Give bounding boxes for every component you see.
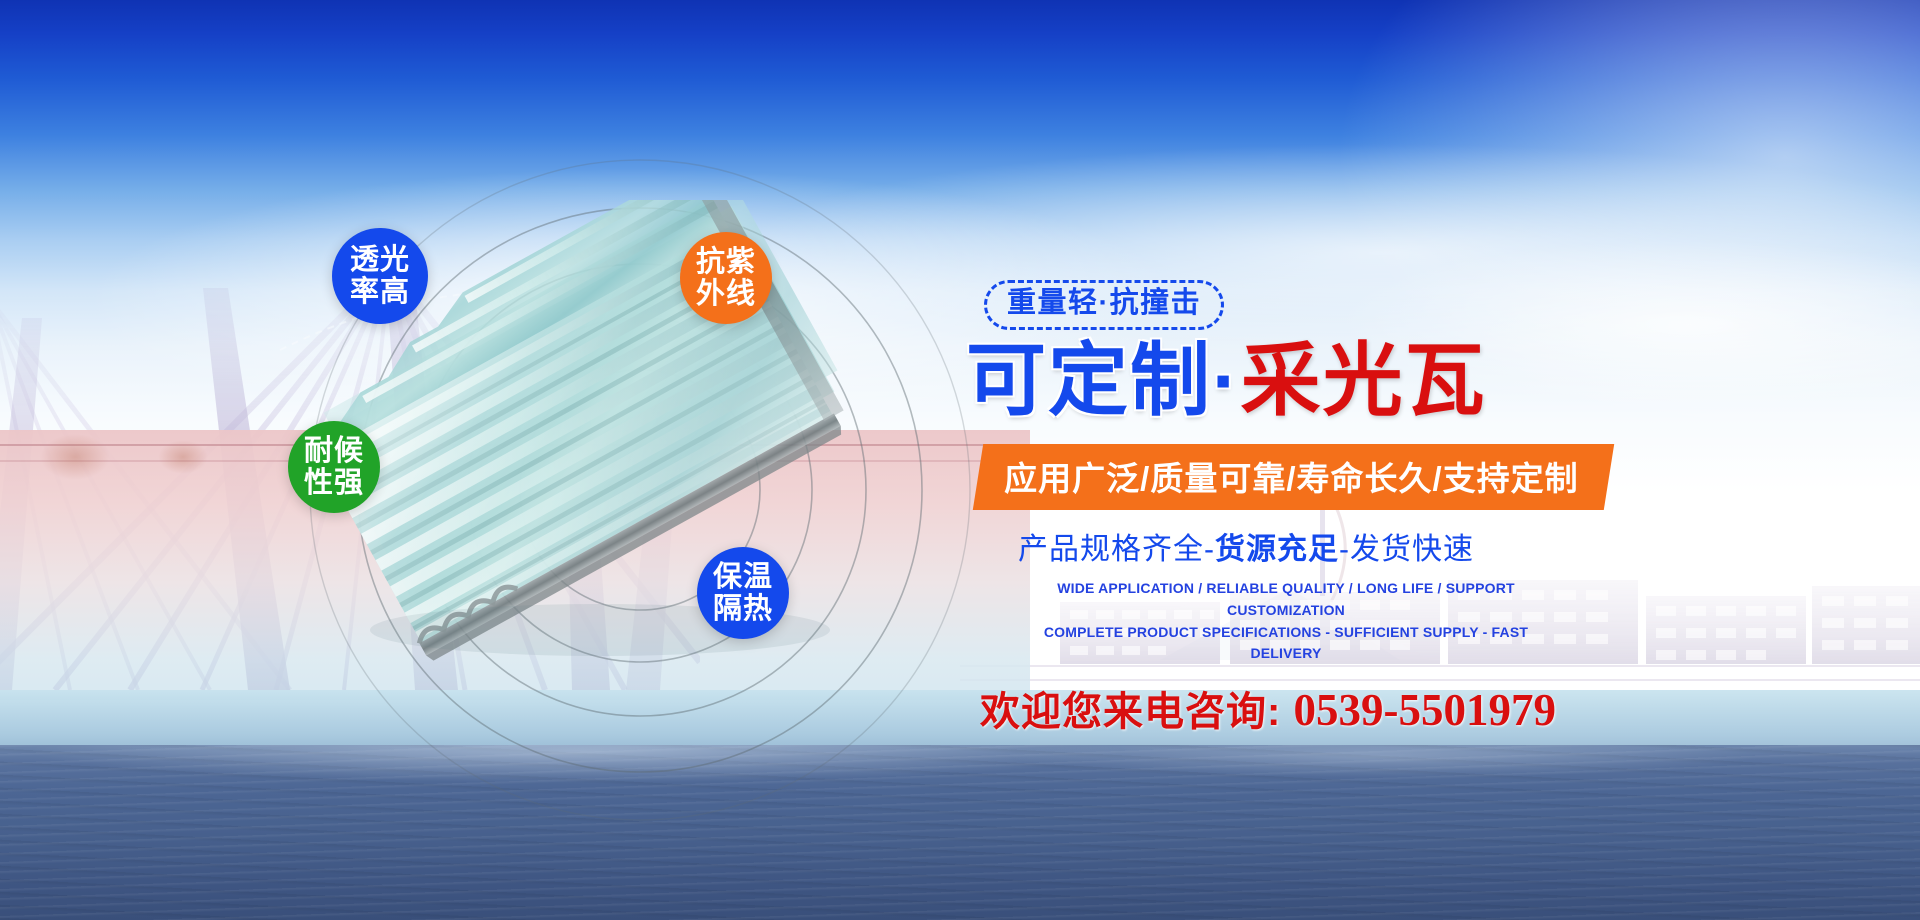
phone-label: 欢迎您来电咨询: — [980, 690, 1281, 734]
feature-bubble-label: 抗紫外线 — [689, 246, 763, 311]
headline-accent: 采光瓦 — [1241, 336, 1487, 425]
promo-banner: 透光率高 抗紫外线 耐候性强 保温隔热 重量轻·抗撞击 可定制·采光瓦 应用广泛… — [0, 0, 1920, 920]
feature-bubble-label: 耐候性强 — [297, 435, 371, 500]
english-line-1: WIDE APPLICATION / RELIABLE QUALITY / LO… — [1026, 578, 1546, 621]
english-translation-block: WIDE APPLICATION / RELIABLE QUALITY / LO… — [1026, 578, 1546, 665]
phone-number[interactable]: 0539-5501979 — [1293, 685, 1556, 735]
subline-strong: 货源充足 — [1215, 533, 1339, 566]
subline-tail: -发货快速 — [1339, 533, 1474, 566]
contact-phone-line[interactable]: 欢迎您来电咨询: 0539-5501979 — [980, 679, 1666, 737]
feature-bubble-weatherproof[interactable]: 耐候性强 — [288, 421, 380, 513]
benefits-ribbon-label: 应用广泛/质量可靠/寿命长久/支持定制 — [1004, 452, 1579, 500]
benefits-ribbon: 应用广泛/质量可靠/寿命长久/支持定制 — [973, 444, 1614, 510]
marketing-copy-block: 重量轻·抗撞击 可定制·采光瓦 应用广泛/质量可靠/寿命长久/支持定制 产品规格… — [966, 280, 1666, 737]
english-line-2: COMPLETE PRODUCT SPECIFICATIONS - SUFFIC… — [1026, 622, 1546, 665]
feature-bubble-transmittance[interactable]: 透光率高 — [332, 228, 428, 324]
subline-lead: 产品规格齐全- — [1018, 533, 1215, 566]
supply-subline: 产品规格齐全-货源充足-发货快速 — [1018, 524, 1666, 568]
headline-primary: 可定制· — [966, 336, 1241, 425]
feature-bubble-insulation[interactable]: 保温隔热 — [697, 547, 789, 639]
page-title: 可定制·采光瓦 — [966, 338, 1666, 424]
feature-bubble-label: 保温隔热 — [706, 561, 780, 626]
feature-bubble-anti-uv[interactable]: 抗紫外线 — [680, 232, 772, 324]
lightweight-impact-badge: 重量轻·抗撞击 — [984, 280, 1224, 330]
feature-bubble-label: 透光率高 — [343, 244, 417, 309]
